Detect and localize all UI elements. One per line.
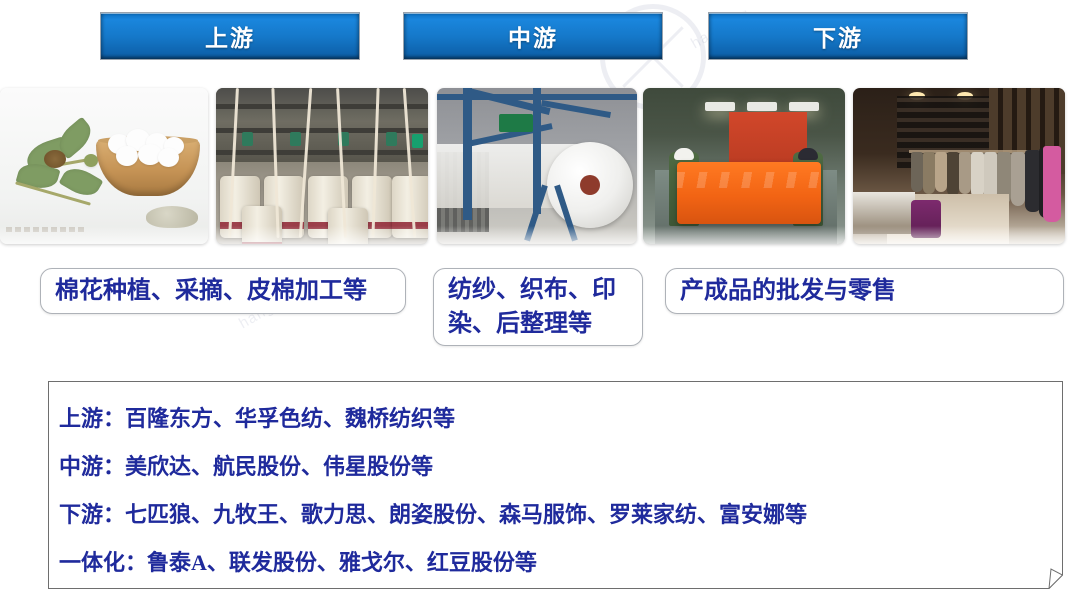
stage-button-label: 中游 — [508, 19, 558, 53]
list-item: 一体化：鲁泰A、联发股份、雅戈尔、红豆股份等 — [59, 539, 1047, 587]
list-item: 下游：七匹狼、九牧王、歌力思、朗姿股份、森马服饰、罗莱家纺、富安娜等 — [59, 491, 1047, 539]
caption-box-midstream: 纺纱、织布、印染、后整理等 — [433, 268, 643, 346]
caption-text: 纺纱、织布、印染、后整理等 — [434, 273, 642, 341]
list-item: 中游：美欣达、航民股份、伟星股份等 — [59, 443, 1047, 491]
company-list: 上游：百隆东方、华孚色纺、魏桥纺织等 中游：美欣达、航民股份、伟星股份等 下游：… — [59, 395, 1047, 587]
caption-text: 产成品的批发与零售 — [666, 274, 910, 308]
apparel-retail-store-photo — [853, 88, 1065, 244]
caption-box-upstream: 棉花种植、采摘、皮棉加工等 — [40, 268, 406, 314]
weaving-finishing-machine-photo — [437, 88, 637, 244]
stage-button-downstream[interactable]: 下游 — [708, 12, 968, 60]
panel-border-left — [48, 381, 49, 589]
caption-text: 棉花种植、采摘、皮棉加工等 — [41, 274, 381, 308]
stage-button-label: 上游 — [205, 19, 255, 53]
dyeing-workshop-photo — [643, 88, 845, 244]
panel-border-top — [48, 381, 1063, 382]
photo-reflection — [853, 226, 1065, 244]
company-list-panel: 上游：百隆东方、华孚色纺、魏桥纺织等 中游：美欣达、航民股份、伟星股份等 下游：… — [48, 381, 1063, 589]
photo-reflection — [437, 226, 637, 244]
caption-box-downstream: 产成品的批发与零售 — [665, 268, 1064, 314]
panel-border-right — [1062, 381, 1063, 549]
spinning-mill-photo — [216, 88, 428, 244]
panel-border-bottom — [48, 588, 1011, 589]
photo-reflection — [216, 226, 428, 244]
stage-button-midstream[interactable]: 中游 — [403, 12, 663, 60]
photo-reflection — [0, 226, 208, 244]
photo-reflection — [643, 226, 845, 244]
stage-button-upstream[interactable]: 上游 — [100, 12, 360, 60]
cotton-boll-basket-photo — [0, 88, 208, 244]
stage-button-label: 下游 — [813, 19, 863, 53]
list-item: 上游：百隆东方、华孚色纺、魏桥纺织等 — [59, 395, 1047, 443]
